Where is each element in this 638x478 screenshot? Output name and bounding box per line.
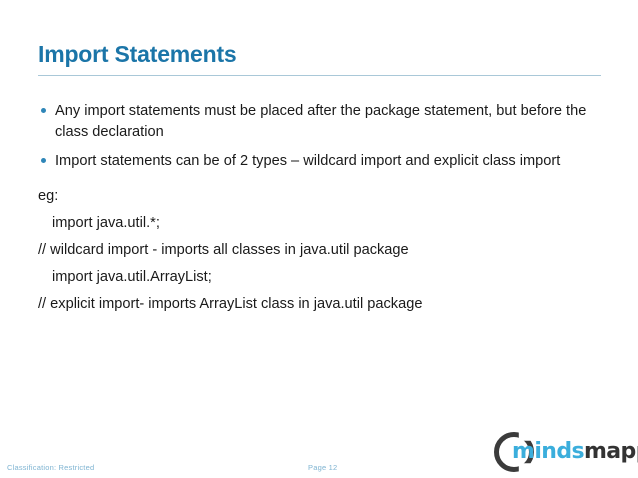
code-line: // explicit import- imports ArrayList cl…: [38, 291, 598, 318]
list-item: Any import statements must be placed aft…: [38, 101, 598, 143]
list-item-text: Any import statements must be placed aft…: [55, 103, 586, 140]
mindsmapped-logo: mindsmapped: [492, 428, 634, 476]
logo-wordmark: mindsmapped: [512, 439, 638, 464]
code-line: import java.util.ArrayList;: [38, 264, 598, 291]
logo-text-primary: minds: [512, 439, 584, 464]
slide-body: Any import statements must be placed aft…: [38, 101, 598, 318]
footer-page-number: Page 12: [308, 463, 337, 472]
code-line: // wildcard import - imports all classes…: [38, 237, 598, 264]
logo-text-secondary: mapped: [584, 439, 638, 464]
code-example-block: eg: import java.util.*; // wildcard impo…: [38, 183, 598, 318]
list-item: Import statements can be of 2 types – wi…: [38, 151, 598, 172]
footer-classification: Classification: Restricted: [7, 463, 94, 472]
page-title: Import Statements: [38, 41, 237, 68]
bullet-dot-icon: [41, 108, 46, 113]
title-divider: [38, 75, 601, 76]
code-line: eg:: [38, 183, 598, 210]
bullet-dot-icon: [41, 158, 46, 163]
list-item-text: Import statements can be of 2 types – wi…: [55, 153, 560, 169]
code-line: import java.util.*;: [38, 210, 598, 237]
slide-canvas: Import Statements Any import statements …: [0, 0, 638, 478]
